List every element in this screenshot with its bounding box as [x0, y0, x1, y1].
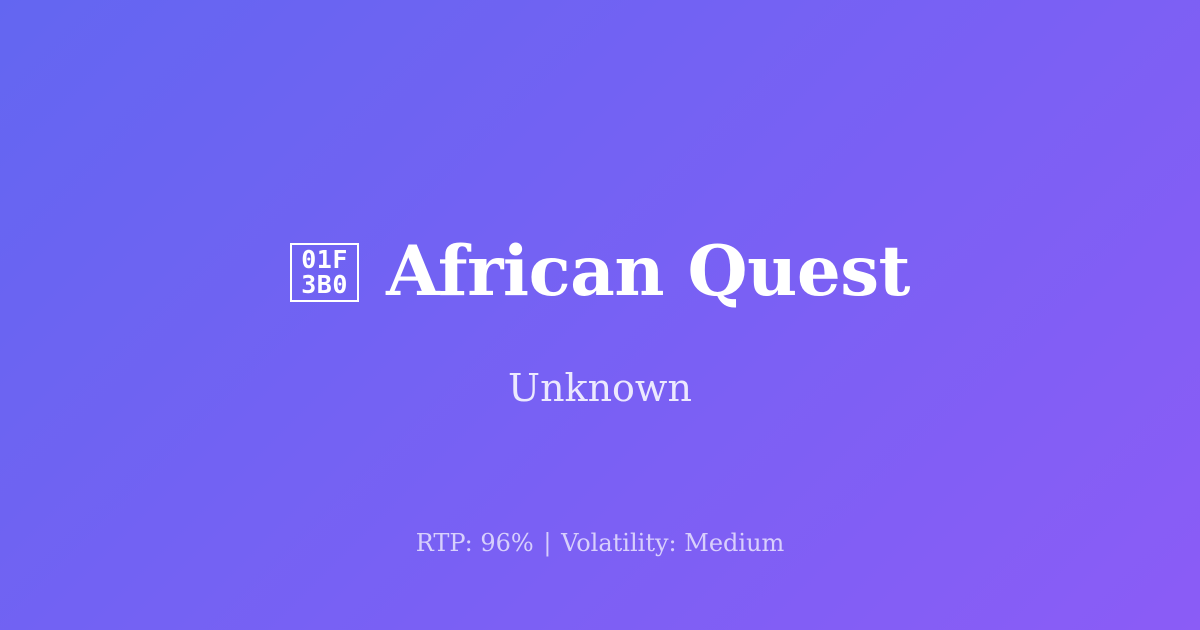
- game-preview-card: 01F 3B0 African Quest Unknown RTP: 96% |…: [0, 0, 1200, 630]
- game-title: African Quest: [386, 232, 910, 312]
- tofu-codepoint-upper: 01F: [301, 247, 348, 272]
- title-row: 01F 3B0 African Quest: [0, 232, 1200, 312]
- volatility-value: Medium: [684, 529, 784, 557]
- volatility-label: Volatility:: [561, 529, 677, 557]
- game-provider: Unknown: [0, 364, 1200, 412]
- game-stats: RTP: 96% | Volatility: Medium: [0, 528, 1200, 558]
- stats-separator: |: [541, 529, 553, 557]
- tofu-codepoint-lower: 3B0: [301, 272, 348, 297]
- rtp-value: 96%: [480, 529, 533, 557]
- rtp-label: RTP:: [416, 529, 473, 557]
- slot-machine-icon: 01F 3B0: [290, 243, 359, 302]
